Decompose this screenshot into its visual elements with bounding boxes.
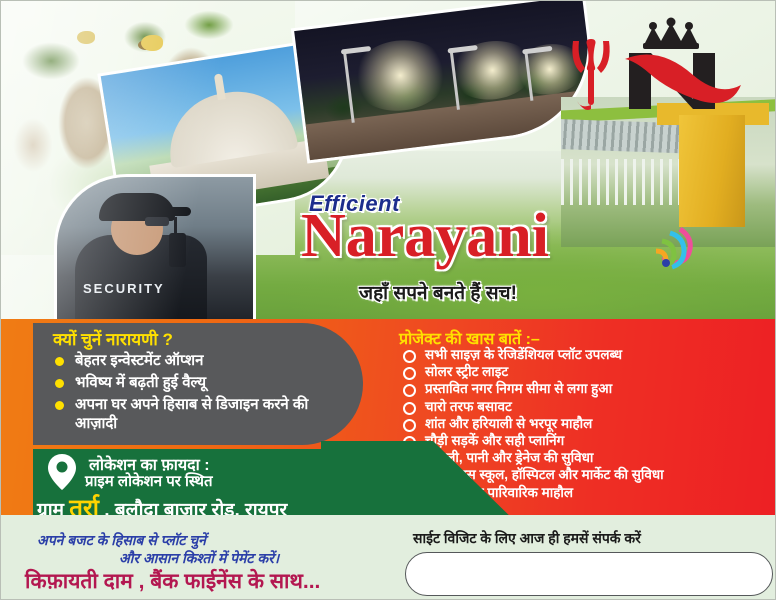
list-item: बेहतर इन्वेस्टमेंट ऑप्शन xyxy=(53,351,353,370)
brand-tagline: जहाँ सपने बनते हैं सच! xyxy=(359,279,517,305)
list-item: सोलर स्ट्रीट लाइट xyxy=(399,363,771,380)
offer-line-3: किफ़ायती दाम , बैंक फाईनेंस के साथ... xyxy=(25,567,320,595)
offer-line-1: अपने बजट के हिसाब से प्लॉट चुनें xyxy=(37,531,206,550)
trident-icon xyxy=(572,39,609,110)
contact-details-box[interactable] xyxy=(405,552,773,596)
list-item: शांत और हरियाली से भरपूर माहौल xyxy=(399,415,771,432)
narayani-monogram-logo xyxy=(567,15,773,119)
brand-name: Narayani xyxy=(301,205,549,267)
list-item: सभी साइज़ के रेजिडेंशियल प्लॉट उपलब्ध xyxy=(399,346,771,363)
map-pin-icon xyxy=(47,453,77,491)
list-item: अपना घर अपने हिसाब से डिजाइन करने की आज़… xyxy=(53,395,353,433)
list-item: चौड़ी सड़कें और सही प्लानिंग xyxy=(399,432,771,449)
list-item: चारो तरफ बसावट xyxy=(399,398,771,415)
peacock-swirl-ornament xyxy=(646,227,696,273)
list-item: भविष्य में बढ़ती हुई वैल्यू xyxy=(53,373,353,392)
location-subheading: प्राइम लोकेशन पर स्थित xyxy=(85,471,213,491)
crown-icon xyxy=(643,18,699,50)
why-choose-list: बेहतर इन्वेस्टमेंट ऑप्शन भविष्य में बढ़त… xyxy=(53,351,353,436)
list-item: प्रस्तावित नगर निगम सीमा से लगा हुआ xyxy=(399,380,771,397)
real-estate-flyer: SECURITY xyxy=(0,0,776,600)
why-choose-heading: क्यों चुनें नारायणी ? xyxy=(53,327,173,350)
offer-line-2: और आसान किश्तों में पेमेंट करें। xyxy=(119,549,279,568)
contact-cta-text: साईट विजिट के लिए आज ही हमसें संपर्क करे… xyxy=(413,529,641,548)
brand-wordmark: Efficient Narayani जहाँ सपने बनते हैं सच… xyxy=(301,191,721,311)
